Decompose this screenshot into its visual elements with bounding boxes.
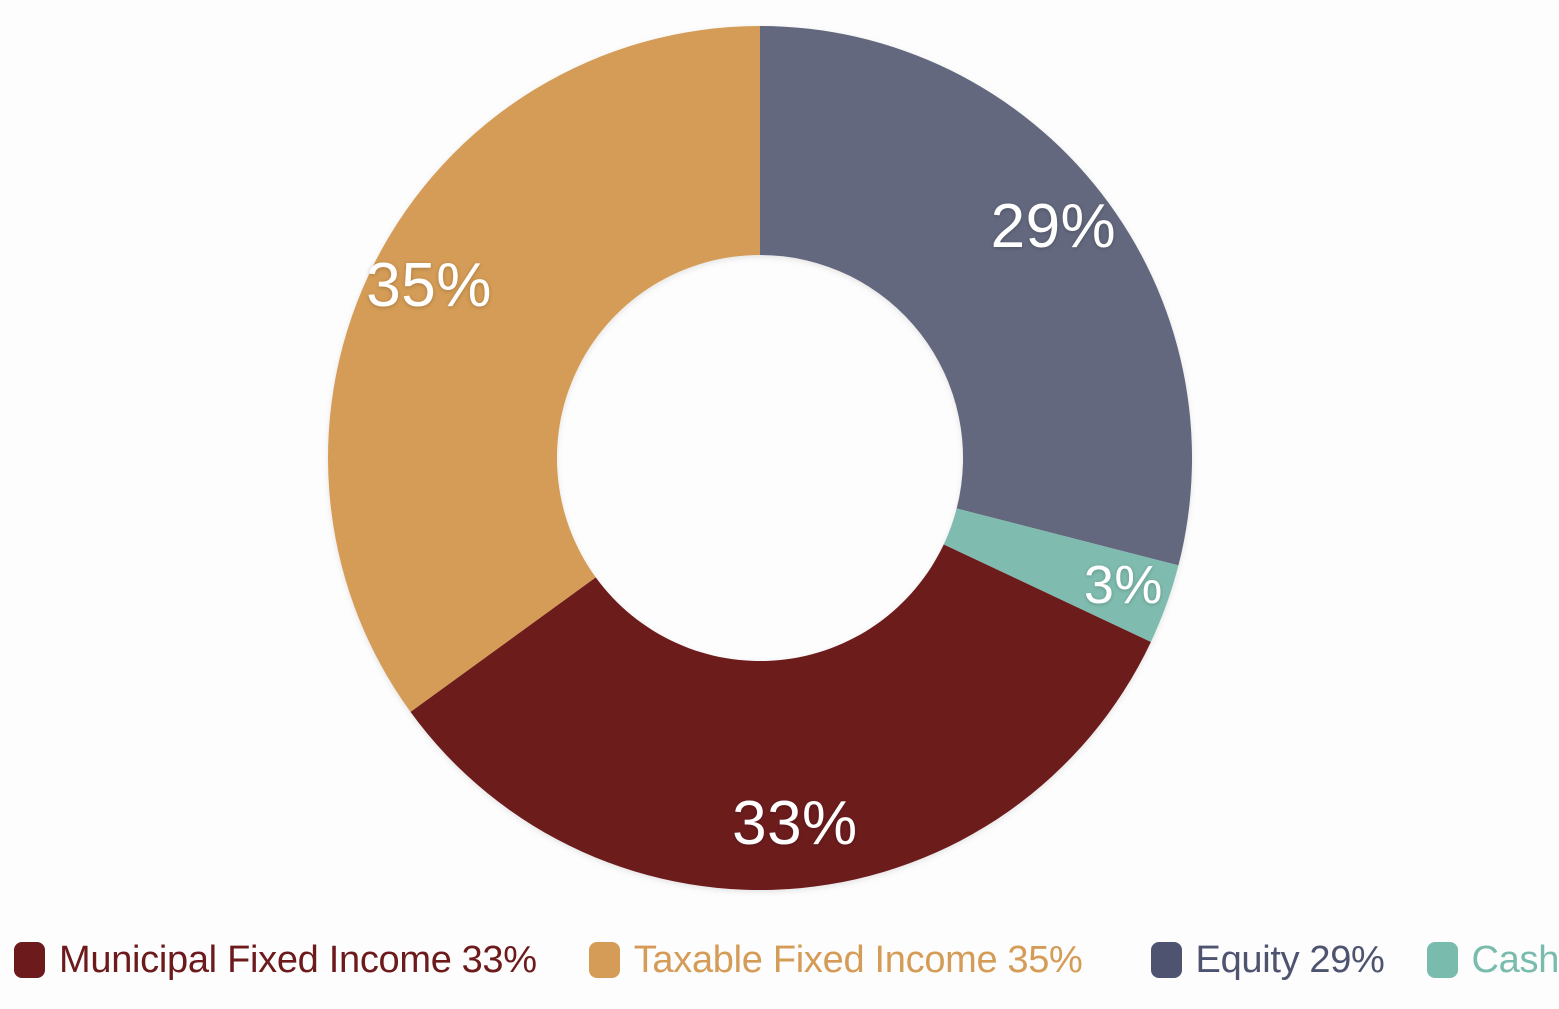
slice-label-cash: 3% — [1084, 555, 1163, 615]
legend-value-equity: 29% — [1309, 941, 1384, 979]
slice-equity[interactable] — [760, 26, 1192, 565]
slice-label-taxable: 35% — [366, 251, 492, 320]
slice-taxable[interactable] — [328, 26, 760, 712]
legend-value-municipal: 33% — [462, 941, 537, 979]
legend-label-taxable: Taxable Fixed Income — [634, 941, 998, 979]
legend-swatch-taxable-icon — [589, 942, 620, 978]
legend-swatch-municipal-icon — [14, 942, 45, 978]
legend-label-equity: Equity — [1196, 941, 1300, 979]
legend-label-municipal: Municipal Fixed Income — [59, 941, 452, 979]
legend-swatch-equity-icon — [1151, 942, 1182, 978]
chart-legend: Municipal Fixed Income 33% Taxable Fixed… — [0, 920, 1559, 1000]
legend-label-cash: Cash — [1472, 941, 1559, 979]
legend-item-taxable-fixed-income[interactable]: Taxable Fixed Income 35% — [589, 936, 1083, 984]
legend-item-municipal-fixed-income[interactable]: Municipal Fixed Income 33% — [14, 936, 537, 984]
legend-item-cash[interactable]: Cash 3% — [1427, 936, 1559, 984]
legend-swatch-cash-icon — [1427, 942, 1458, 978]
legend-item-equity[interactable]: Equity 29% — [1151, 936, 1385, 984]
donut-chart-canvas: 29% 3% 33% 35% — [0, 0, 1559, 900]
legend-value-taxable: 35% — [1007, 941, 1082, 979]
donut-svg: 29% 3% 33% 35% — [0, 0, 1559, 900]
donut-chart-figure: 29% 3% 33% 35% Municipal Fixed Income 33… — [0, 0, 1559, 1009]
donut-slices-group — [328, 26, 1192, 890]
slice-label-municipal: 33% — [732, 789, 858, 858]
slice-label-equity: 29% — [991, 192, 1117, 261]
